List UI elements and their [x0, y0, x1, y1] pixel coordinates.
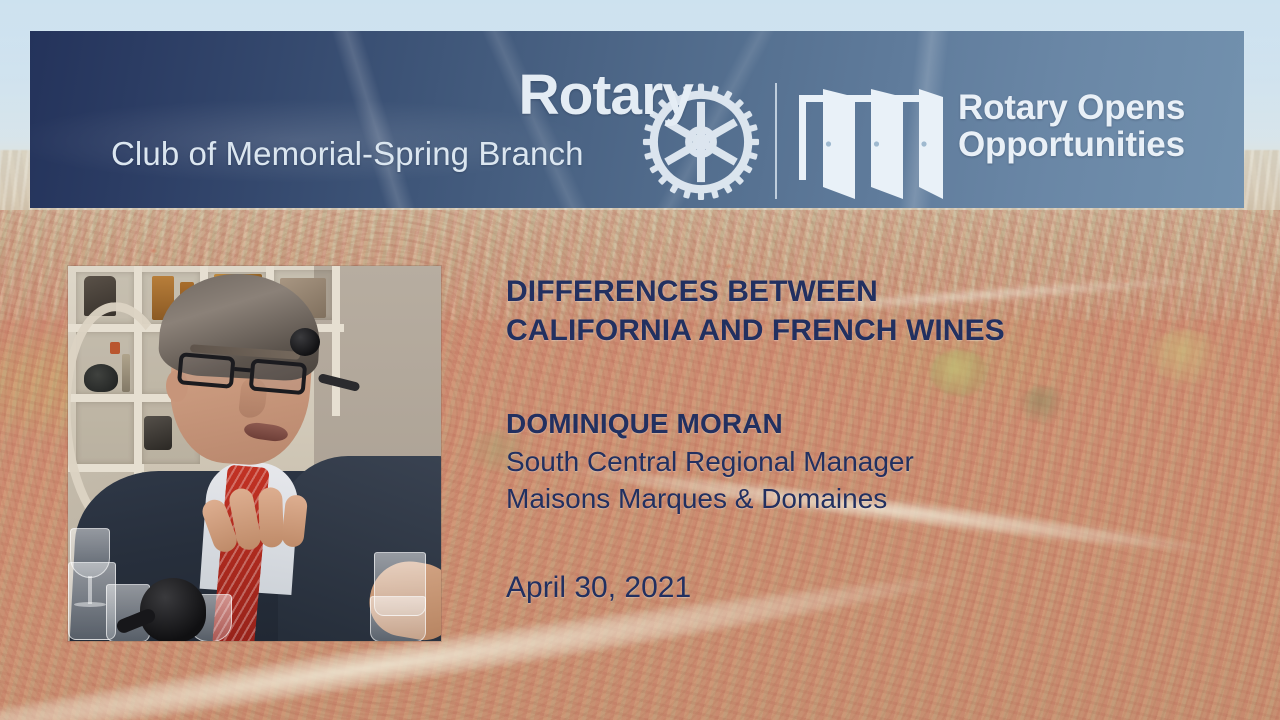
- banner-divider: [775, 83, 777, 199]
- tagline-line-1: Rotary Opens: [958, 89, 1185, 126]
- rotary-gear-wheel-icon: [642, 83, 760, 201]
- rotary-club-name: Club of Memorial-Spring Branch: [111, 137, 584, 170]
- slide-title-line-2: CALIFORNIA AND FRENCH WINES: [506, 311, 1146, 350]
- three-open-doors-icon: [797, 87, 945, 208]
- presentation-slide: Rotary Club of Memorial-Spring Branch: [0, 0, 1280, 720]
- rotary-brand-lockup: Rotary Club of Memorial-Spring Branch: [99, 45, 709, 195]
- speaker-company: Maisons Marques & Domaines: [506, 480, 1146, 518]
- tagline-line-2: Opportunities: [958, 126, 1185, 163]
- slide-title-line-1: DIFFERENCES BETWEEN: [506, 272, 1146, 311]
- speaker-name: DOMINIQUE MORAN: [506, 406, 1146, 443]
- background-shrub-3: [1150, 330, 1220, 384]
- presentation-date: April 30, 2021: [506, 570, 1146, 606]
- rotary-banner: Rotary Club of Memorial-Spring Branch: [30, 31, 1244, 208]
- speaker-role: South Central Regional Manager: [506, 443, 1146, 481]
- slide-text-block: DIFFERENCES BETWEEN CALIFORNIA AND FRENC…: [506, 272, 1146, 606]
- rotary-tagline: Rotary Opens Opportunities: [958, 89, 1185, 164]
- speaker-photo: [68, 266, 441, 641]
- photo-softening-overlay: [68, 266, 441, 641]
